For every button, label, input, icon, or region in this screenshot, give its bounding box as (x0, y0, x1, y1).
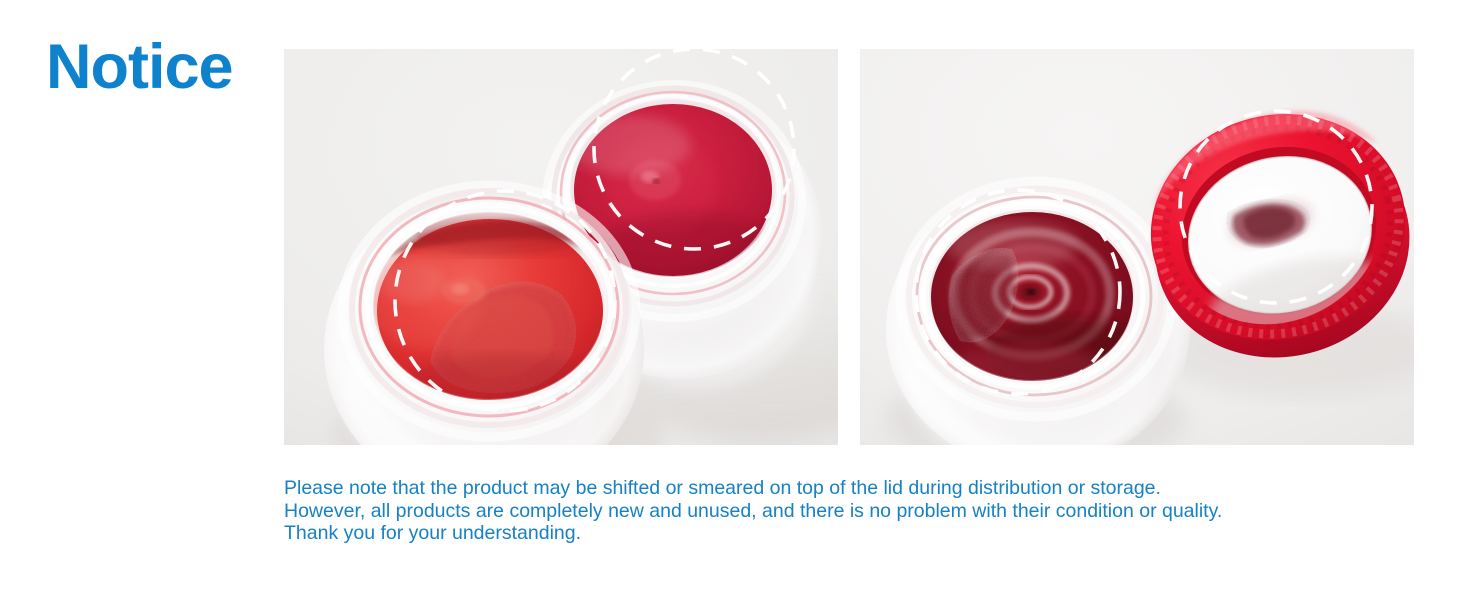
caption-line-2: However, all products are completely new… (284, 500, 1424, 523)
page-title: Notice (46, 36, 233, 99)
product-photo-right (860, 49, 1414, 445)
notice-caption: Please note that the product may be shif… (284, 477, 1424, 545)
photo-left-graphic (284, 49, 838, 445)
caption-line-1: Please note that the product may be shif… (284, 477, 1424, 500)
product-photo-left (284, 49, 838, 445)
caption-line-3: Thank you for your understanding. (284, 522, 1424, 545)
photo-right-graphic (860, 49, 1414, 445)
